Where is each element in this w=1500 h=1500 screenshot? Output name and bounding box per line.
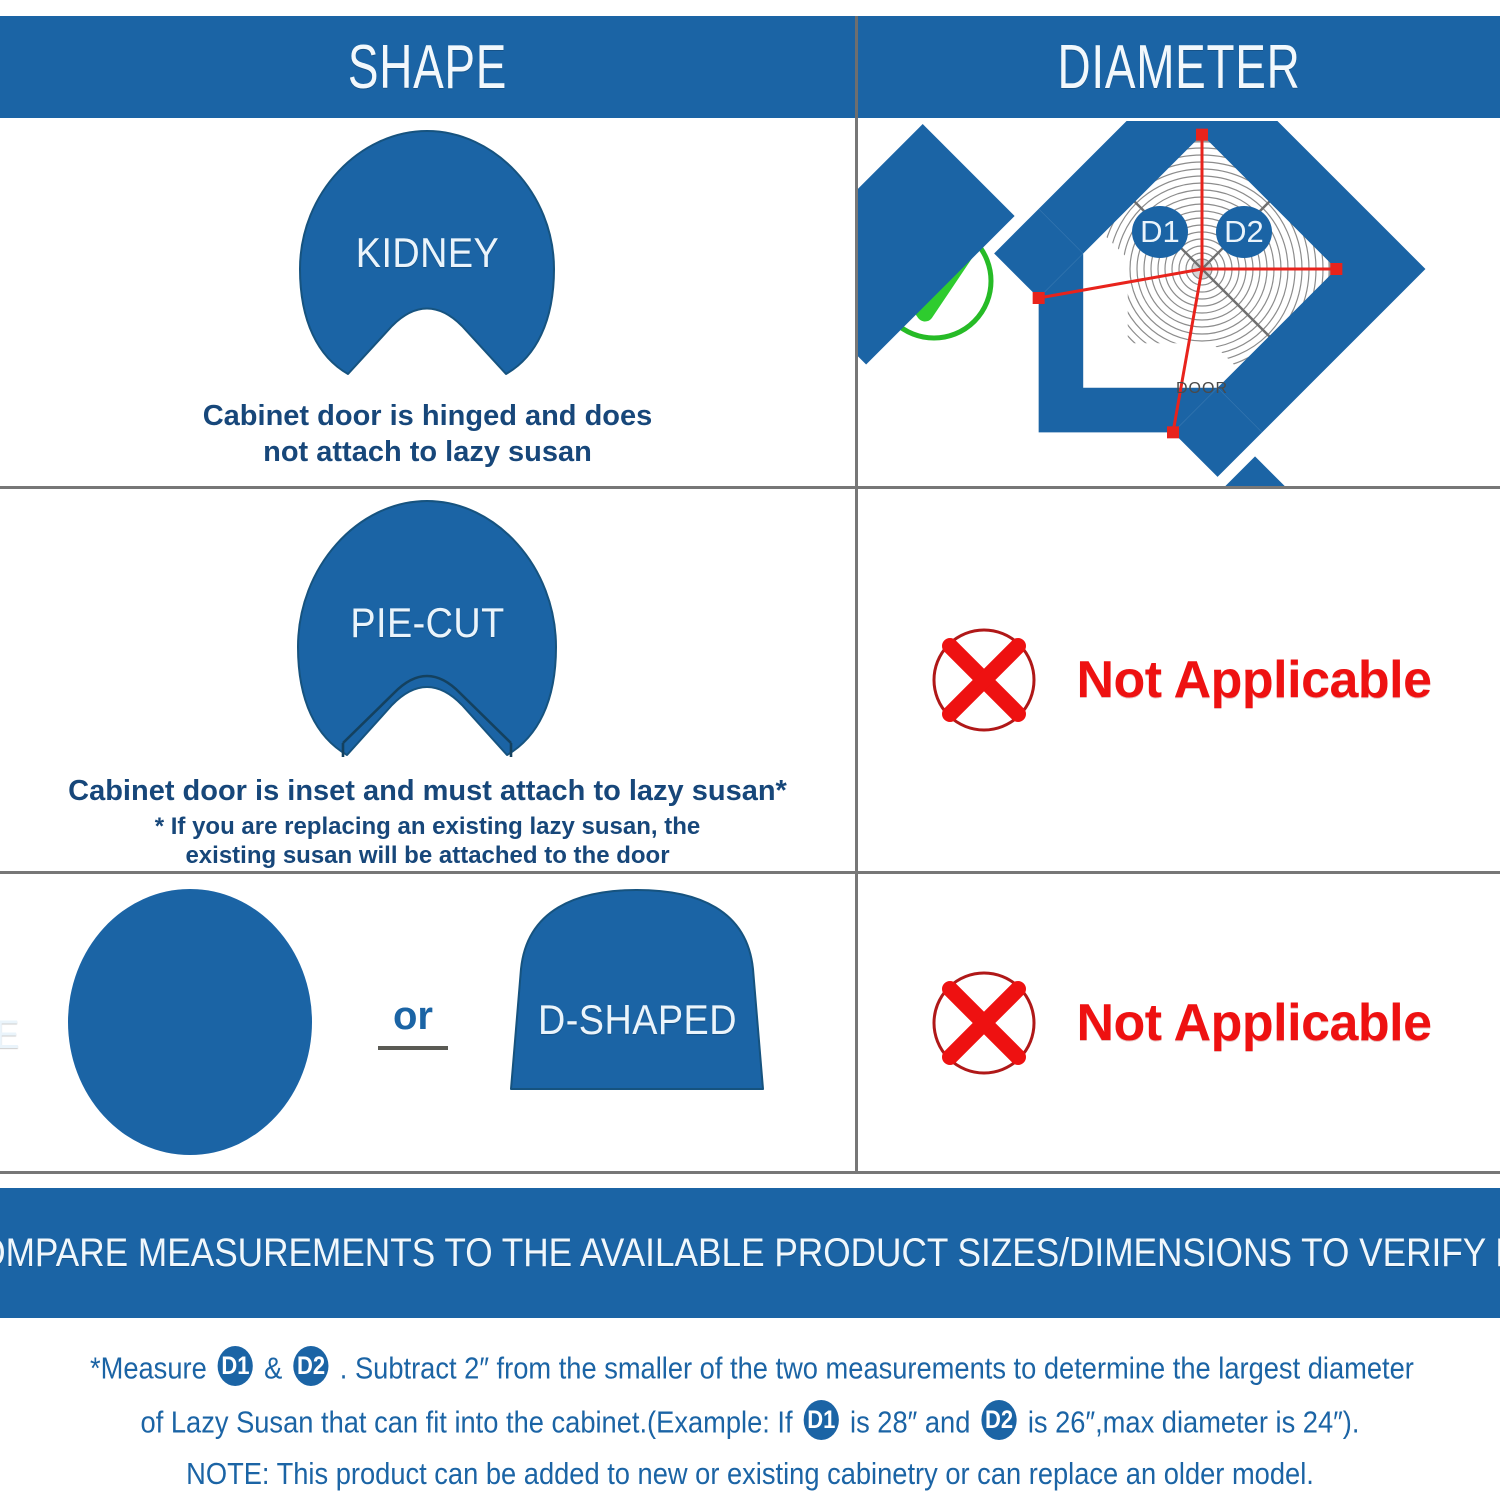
cross-circle-icon bbox=[926, 965, 1042, 1081]
connector-or: or bbox=[373, 994, 453, 1039]
cell-shape-pie-cut: PIE-CUT Cabinet door is inset and must a… bbox=[0, 489, 855, 871]
door-label: DOOR bbox=[1176, 380, 1228, 397]
adjacent-cabinet-left bbox=[858, 124, 1015, 364]
header-divider bbox=[855, 16, 858, 118]
footer-line1-text-b: . Subtract 2″ from the smaller of the tw… bbox=[340, 1351, 1414, 1386]
badge-d1-label: D1 bbox=[1140, 214, 1180, 249]
not-applicable-label-2: Not Applicable bbox=[1076, 993, 1431, 1053]
caption-kidney-line2: not attach to lazy susan bbox=[0, 435, 855, 470]
cross-circle-icon bbox=[926, 622, 1042, 738]
caption-kidney-line1: Cabinet door is hinged and does bbox=[0, 399, 855, 434]
comparison-table: SHAPE DIAMETER KIDNEY Cabinet door bbox=[0, 16, 1500, 1174]
not-applicable-label-1: Not Applicable bbox=[1076, 650, 1431, 710]
footer-badge-d2-b: D2 bbox=[982, 1400, 1017, 1440]
badge-d2: D2 bbox=[1216, 206, 1272, 258]
compare-banner-text: COMPARE MEASUREMENTS TO THE AVAILABLE PR… bbox=[0, 1231, 1500, 1276]
corner-cabinet-diagram: D1 D2 DOOR bbox=[858, 121, 1500, 486]
footer-badge-d1-b: D1 bbox=[804, 1400, 839, 1440]
caption-pie-line1: Cabinet door is inset and must attach to… bbox=[0, 774, 855, 809]
footer-line-2: of Lazy Susan that can fit into the cabi… bbox=[90, 1402, 1410, 1442]
footer-line-1: *Measure D1 & D2 . Subtract 2″ from the … bbox=[90, 1348, 1410, 1388]
footer-line2-text-a: of Lazy Susan that can fit into the cabi… bbox=[141, 1405, 793, 1440]
footer-badge-d1-a: D1 bbox=[218, 1346, 253, 1386]
cell-shape-circle-dshaped: FULL CIRCLE D-SHAPED or bbox=[0, 874, 855, 1171]
caption-pie-line2: * If you are replacing an existing lazy … bbox=[0, 812, 855, 841]
cell-diameter-diagram: D1 D2 DOOR bbox=[858, 121, 1500, 486]
table-header: SHAPE DIAMETER bbox=[0, 16, 1500, 118]
connector-underline bbox=[378, 1046, 448, 1050]
row-divider-3 bbox=[0, 1171, 1500, 1174]
footer-line1-text-a: *Measure bbox=[90, 1351, 207, 1386]
d-shaped-shape bbox=[511, 890, 763, 1089]
compare-banner: COMPARE MEASUREMENTS TO THE AVAILABLE PR… bbox=[0, 1188, 1500, 1318]
cell-diameter-na-2: Not Applicable bbox=[858, 874, 1500, 1171]
footer-line1-amp: & bbox=[264, 1351, 282, 1386]
footer-line2-text-c: is 26″,max diameter is 24″). bbox=[1028, 1405, 1360, 1440]
badge-d1: D1 bbox=[1132, 206, 1188, 258]
footer-badge-d2-a: D2 bbox=[294, 1346, 329, 1386]
full-circle-shape bbox=[68, 889, 312, 1155]
footer-notes: *Measure D1 & D2 . Subtract 2″ from the … bbox=[0, 1330, 1500, 1500]
caption-pie-line3: existing susan will be attached to the d… bbox=[0, 841, 855, 870]
header-diameter: DIAMETER bbox=[941, 16, 1416, 118]
cell-shape-kidney: KIDNEY Cabinet door is hinged and does n… bbox=[0, 121, 855, 486]
cell-diameter-na-1: Not Applicable bbox=[858, 489, 1500, 871]
footer-line2-text-b: is 28″ and bbox=[850, 1405, 970, 1440]
infographic-page: SHAPE DIAMETER KIDNEY Cabinet door bbox=[0, 0, 1500, 1500]
badge-d2-label: D2 bbox=[1224, 214, 1264, 249]
header-shape: SHAPE bbox=[111, 16, 744, 118]
footer-line-3: NOTE: This product can be added to new o… bbox=[90, 1458, 1410, 1489]
